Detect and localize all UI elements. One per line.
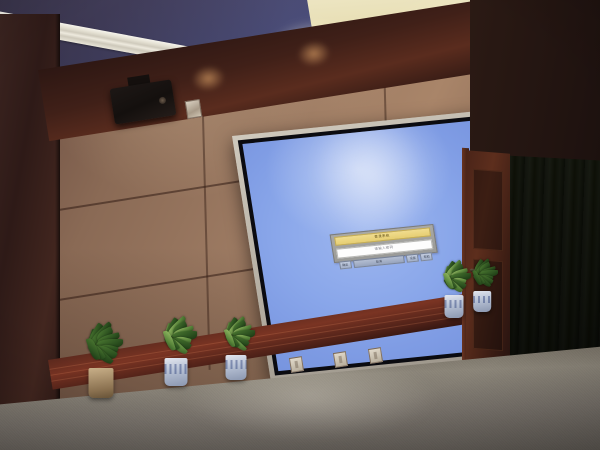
- plant-right-2-pot-pattern: [444, 300, 463, 308]
- dialog-button-label: 确定: [342, 263, 348, 267]
- plant-left-2-foliage: [150, 315, 203, 359]
- beam-light-spot-1: [190, 63, 228, 94]
- plant-right-1-pot: [226, 355, 247, 380]
- plant-right-3-pot: [473, 291, 491, 312]
- plant-left-1: [72, 321, 130, 399]
- wall-outlet-2-slot: [338, 356, 342, 363]
- wall-outlet-2[interactable]: [333, 351, 348, 368]
- plant-right-3: [462, 257, 502, 312]
- plant-left-1-pot: [88, 368, 113, 398]
- dialog-button-label: 设置: [410, 257, 416, 261]
- dialog-button-3[interactable]: 设置: [406, 254, 419, 263]
- projector-lens-icon: [158, 96, 166, 104]
- plant-right-1-foliage: [212, 315, 260, 355]
- room-photo-scene: 登录系统 请输入密码 确定取消设置帮助 剩余时间 04:00: [0, 0, 600, 450]
- wall-outlet-3[interactable]: [368, 347, 383, 364]
- plant-left-2-pot-pattern: [165, 364, 188, 373]
- drape-shading: [505, 156, 600, 361]
- dialog-button-label: 取消: [376, 260, 382, 264]
- wall-control-plate[interactable]: [185, 99, 203, 119]
- beam-light-spot-2: [295, 38, 333, 69]
- plant-left-1-foliage: [72, 321, 130, 369]
- dialog-button-2[interactable]: 取消: [353, 255, 406, 268]
- plant-right-1-pot-pattern: [226, 360, 247, 369]
- wall-outlet-3-slot: [373, 352, 377, 359]
- plant-left-2-pot: [165, 358, 188, 386]
- dialog-button-label: 帮助: [424, 255, 430, 259]
- plant-right-2-pot: [444, 295, 463, 318]
- wall-outlet-1-slot: [294, 361, 298, 368]
- dialog-title: 登录系统: [374, 235, 390, 240]
- window-drapes: [505, 156, 600, 361]
- dialog-button-1[interactable]: 确定: [339, 261, 352, 270]
- plant-right-3-pot-pattern: [473, 296, 491, 303]
- wall-outlet-1[interactable]: [289, 356, 304, 373]
- plant-right-1: [212, 315, 260, 380]
- plant-left-2: [150, 315, 203, 386]
- plant-right-3-foliage: [462, 257, 502, 291]
- dialog-input-value: 请输入密码: [374, 246, 393, 251]
- door-panel-upper: [473, 169, 503, 251]
